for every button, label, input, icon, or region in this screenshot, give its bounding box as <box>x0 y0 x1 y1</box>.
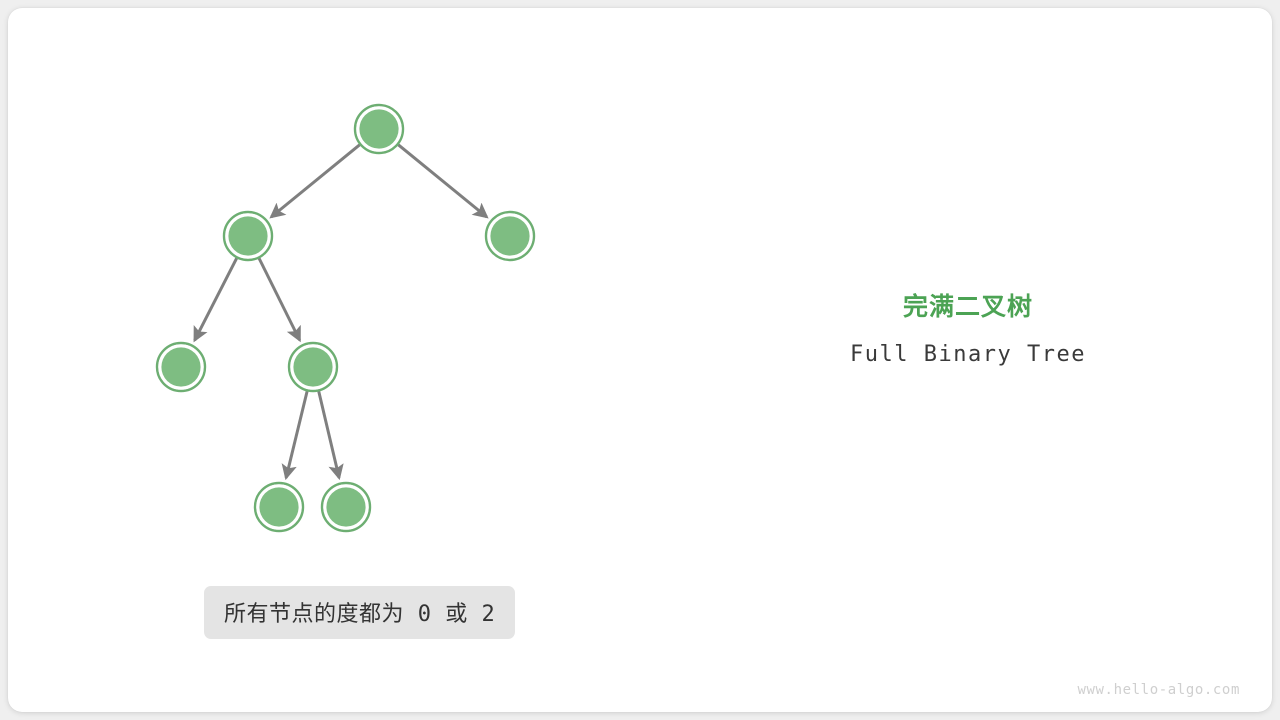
tree-edge-layer <box>195 145 487 478</box>
tree-node[interactable] <box>355 105 403 153</box>
tree-node[interactable] <box>322 483 370 531</box>
tree-node[interactable] <box>289 343 337 391</box>
tree-node[interactable] <box>255 483 303 531</box>
tree-subtitle: Full Binary Tree <box>768 342 1168 368</box>
tree-edge <box>195 258 237 340</box>
tree-node[interactable] <box>486 212 534 260</box>
caption-chip: 所有节点的度都为 0 或 2 <box>204 586 515 639</box>
tree-node-layer <box>157 105 534 531</box>
watermark: www.hello-algo.com <box>1077 682 1240 698</box>
tree-label-block: 完满二叉树 Full Binary Tree <box>768 292 1168 368</box>
tree-edge <box>319 391 339 477</box>
tree-edge <box>286 391 307 478</box>
diagram-canvas: 完满二叉树 Full Binary Tree 所有节点的度都为 0 或 2 ww… <box>0 0 1280 720</box>
tree-node[interactable] <box>224 212 272 260</box>
tree-title: 完满二叉树 <box>768 292 1168 322</box>
tree-node[interactable] <box>157 343 205 391</box>
tree-edge <box>398 145 486 217</box>
tree-edge <box>271 145 359 217</box>
tree-edge <box>259 258 300 340</box>
